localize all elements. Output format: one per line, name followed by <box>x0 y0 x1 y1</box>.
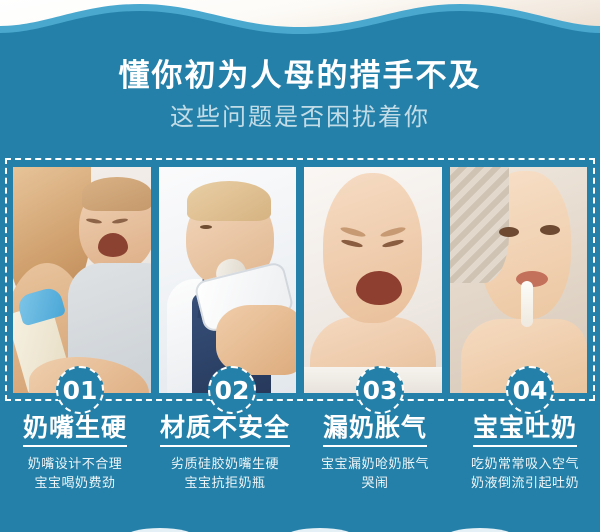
caption-block-4: 宝宝吐奶 吃奶常常吸入空气 奶液倒流引起吐奶 <box>450 412 600 522</box>
caption-block-2: 材质不安全 劣质硅胶奶嘴生硬 宝宝抗拒奶瓶 <box>150 412 300 522</box>
caption-desc-1: 奶嘴设计不合理 宝宝喝奶费劲 <box>2 455 148 493</box>
caption-desc-4-line2: 奶液倒流引起吐奶 <box>452 474 598 493</box>
badge-03: 03 <box>356 366 404 414</box>
badge-02: 02 <box>208 366 256 414</box>
caption-desc-3-line1: 宝宝漏奶呛奶胀气 <box>302 455 448 474</box>
caption-desc-1-line1: 奶嘴设计不合理 <box>2 455 148 474</box>
badge-04: 04 <box>506 366 554 414</box>
photo-grid <box>13 167 587 393</box>
page-title: 懂你初为人母的措手不及 <box>0 56 600 96</box>
heading-zone: 懂你初为人母的措手不及 这些问题是否困扰着你 <box>0 46 600 150</box>
caption-desc-2-line2: 宝宝抗拒奶瓶 <box>152 474 298 493</box>
caption-title-4: 宝宝吐奶 <box>473 412 577 447</box>
caption-desc-1-line2: 宝宝喝奶费劲 <box>2 474 148 493</box>
badge-01: 01 <box>56 366 104 414</box>
page-subtitle: 这些问题是否困扰着你 <box>0 101 600 133</box>
caption-title-2: 材质不安全 <box>160 412 290 447</box>
photo-panel-4 <box>450 167 588 393</box>
promo-page: 懂你初为人母的措手不及 这些问题是否困扰着你 <box>0 0 600 532</box>
wave-decoration <box>0 0 600 48</box>
caption-desc-2-line1: 劣质硅胶奶嘴生硬 <box>152 455 298 474</box>
caption-desc-4: 吃奶常常吸入空气 奶液倒流引起吐奶 <box>452 455 598 493</box>
caption-title-3: 漏奶胀气 <box>323 412 427 447</box>
caption-block-1: 奶嘴生硬 奶嘴设计不合理 宝宝喝奶费劲 <box>0 412 150 522</box>
caption-desc-2: 劣质硅胶奶嘴生硬 宝宝抗拒奶瓶 <box>152 455 298 493</box>
caption-desc-4-line1: 吃奶常常吸入空气 <box>452 455 598 474</box>
photo-panel-1 <box>13 167 151 393</box>
caption-desc-3-line2: 哭闹 <box>302 474 448 493</box>
bottom-scallop-decoration <box>0 518 600 532</box>
caption-desc-3: 宝宝漏奶呛奶胀气 哭闹 <box>302 455 448 493</box>
photo-panel-3 <box>304 167 442 393</box>
caption-block-3: 漏奶胀气 宝宝漏奶呛奶胀气 哭闹 <box>300 412 450 522</box>
caption-row: 奶嘴生硬 奶嘴设计不合理 宝宝喝奶费劲 材质不安全 劣质硅胶奶嘴生硬 宝宝抗拒奶… <box>0 412 600 522</box>
caption-title-1: 奶嘴生硬 <box>23 412 127 447</box>
photo-panel-2 <box>159 167 297 393</box>
